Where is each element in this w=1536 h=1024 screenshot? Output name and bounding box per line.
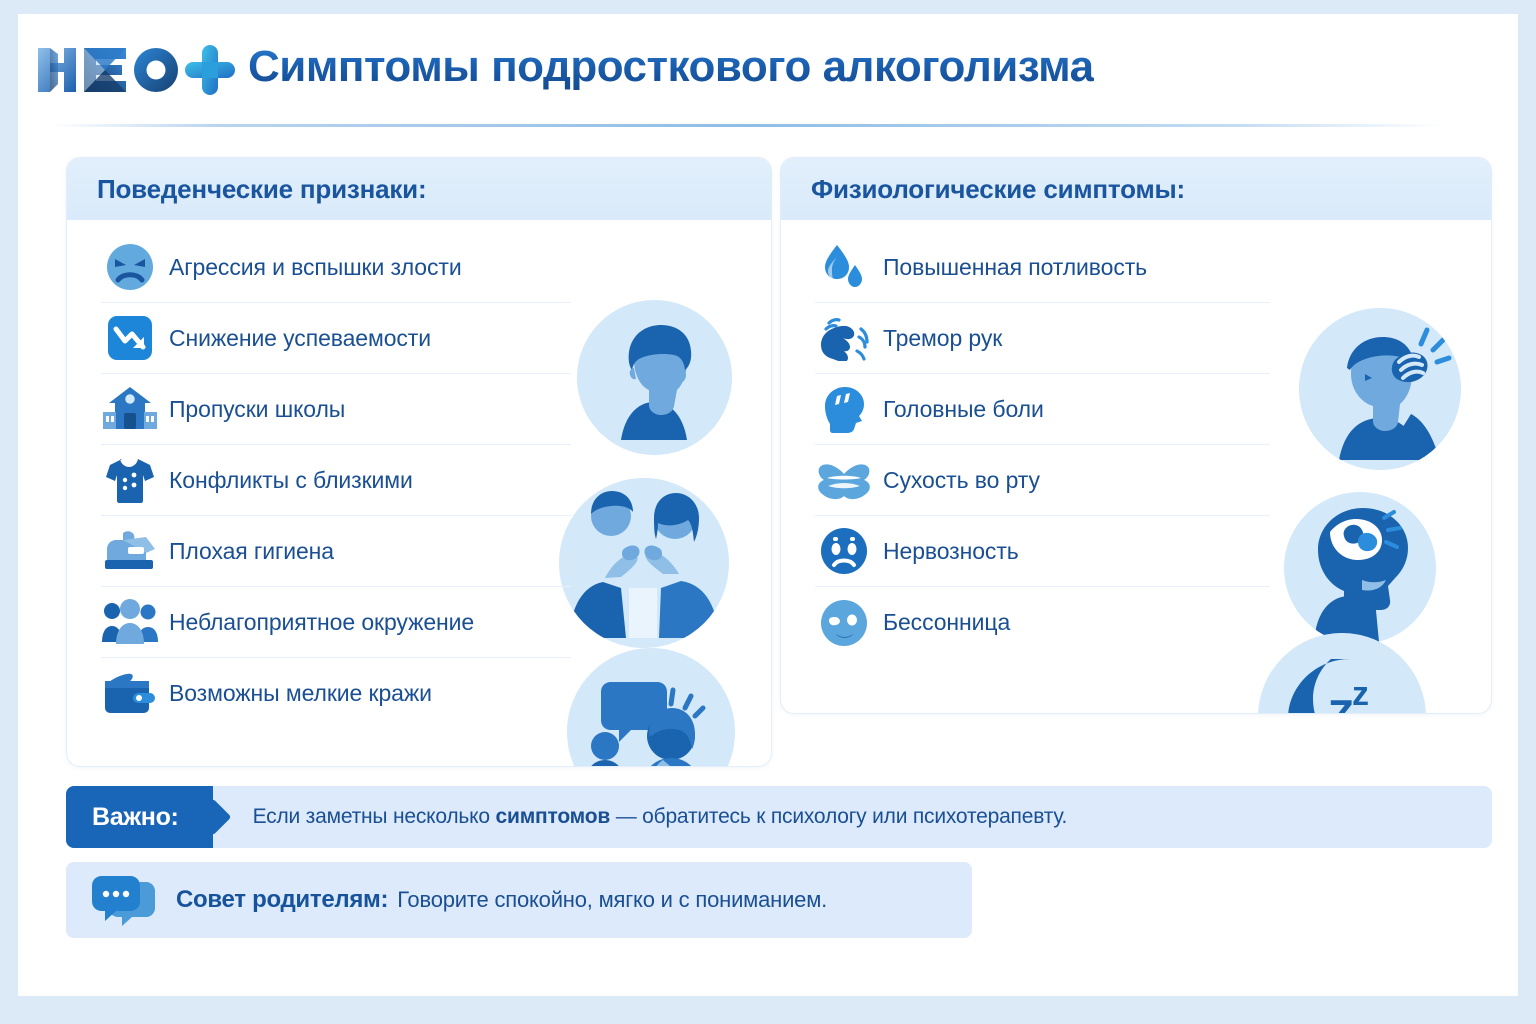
important-text-before: Если заметны несколько <box>253 805 496 828</box>
advice-text: Говорите спокойно, мягко и с пониманием. <box>397 887 827 913</box>
list-item-label: Бессонница <box>883 609 1010 636</box>
header: Симптомы подросткового алкоголизма <box>18 14 1518 126</box>
list-item-label: Пропуски школы <box>169 396 345 423</box>
advice-title: Совет родителям: <box>176 886 388 914</box>
declining-chart-icon <box>101 309 159 367</box>
school-building-icon <box>101 380 159 438</box>
head-pain-icon <box>815 380 873 438</box>
panel-body-behavioral: Агрессия и вспышки злости Снижение успев… <box>67 220 771 766</box>
list-item[interactable]: Агрессия и вспышки злости <box>101 232 571 303</box>
worried-face-icon <box>815 522 873 580</box>
list-item[interactable]: Неблагоприятное окружение <box>101 587 571 658</box>
neo-plus-logo <box>34 40 244 98</box>
list-item-label: Повышенная потливость <box>883 254 1147 281</box>
soap-icon <box>101 522 159 580</box>
panel-title-physiological: Физиологические симптомы: <box>811 174 1185 205</box>
list-item[interactable]: Тремор рук <box>815 303 1270 374</box>
speech-bubble-icon <box>92 874 156 926</box>
list-item[interactable]: Возможны мелкие кражи <box>101 658 571 729</box>
panel-behavioral-signs: Поведенческие признаки: <box>66 157 772 767</box>
list-item-label: Агрессия и вспышки злости <box>169 254 462 281</box>
list-item-label: Снижение успеваемости <box>169 325 431 352</box>
physiological-symptom-list: Повышенная потливость <box>781 232 1491 658</box>
panel-body-physiological: z Z Повышенная потливость <box>781 220 1491 713</box>
panel-header-behavioral: Поведенческие признаки: <box>67 158 771 220</box>
list-item[interactable]: Нервозность <box>815 516 1270 587</box>
list-item[interactable]: Конфликты с близкими <box>101 445 571 516</box>
list-item-label: Тремор рук <box>883 325 1002 352</box>
important-text-bold: симптомов <box>496 805 611 828</box>
svg-text:Z: Z <box>1328 691 1354 714</box>
list-item-label: Конфликты с близкими <box>169 467 413 494</box>
list-item-label: Возможны мелкие кражи <box>169 680 432 707</box>
lips-icon <box>815 451 873 509</box>
list-item[interactable]: Бессонница <box>815 587 1270 658</box>
list-item-label: Нервозность <box>883 538 1019 565</box>
sleepless-face-icon <box>815 594 873 652</box>
tshirt-icon <box>101 451 159 509</box>
angry-face-icon <box>101 238 159 296</box>
list-item-label: Неблагоприятное окружение <box>169 609 474 636</box>
advice-banner: Совет родителям: Говорите спокойно, мягк… <box>66 862 972 938</box>
behavioral-symptom-list: Агрессия и вспышки злости Снижение успев… <box>67 232 771 729</box>
important-badge: Важно: <box>66 786 213 848</box>
page-title: Симптомы подросткового алкоголизма <box>248 42 1094 92</box>
list-item[interactable]: Головные боли <box>815 374 1270 445</box>
svg-text:z: z <box>1352 675 1369 713</box>
list-item-label: Плохая гигиена <box>169 538 334 565</box>
status-badge: Важно: <box>92 803 179 832</box>
wallet-icon <box>101 665 159 723</box>
important-banner: Важно: Если заметны несколько симптомов … <box>66 786 1492 848</box>
list-item[interactable]: Сухость во рту <box>815 445 1270 516</box>
list-item[interactable]: Плохая гигиена <box>101 516 571 587</box>
title-divider <box>50 124 1445 127</box>
list-item[interactable]: Повышенная потливость <box>815 232 1270 303</box>
panel-physiological-symptoms: Физиологические симптомы: <box>780 157 1492 714</box>
list-item[interactable]: Пропуски школы <box>101 374 571 445</box>
list-item-label: Сухость во рту <box>883 467 1040 494</box>
panel-header-physiological: Физиологические симптомы: <box>781 158 1491 220</box>
list-item-label: Головные боли <box>883 396 1044 423</box>
important-text: Если заметны несколько симптомов — обрат… <box>253 805 1068 829</box>
list-item[interactable]: Снижение успеваемости <box>101 303 571 374</box>
logo-icon <box>34 40 244 98</box>
shaking-hand-icon <box>815 309 873 367</box>
important-text-after: — обратитесь к психологу или психотерапе… <box>610 805 1067 828</box>
infographic-canvas: Симптомы подросткового алкоголизма Повед… <box>18 14 1518 996</box>
group-people-icon <box>101 593 159 651</box>
sweat-drops-icon <box>815 238 873 296</box>
panel-title-behavioral: Поведенческие признаки: <box>97 174 426 205</box>
